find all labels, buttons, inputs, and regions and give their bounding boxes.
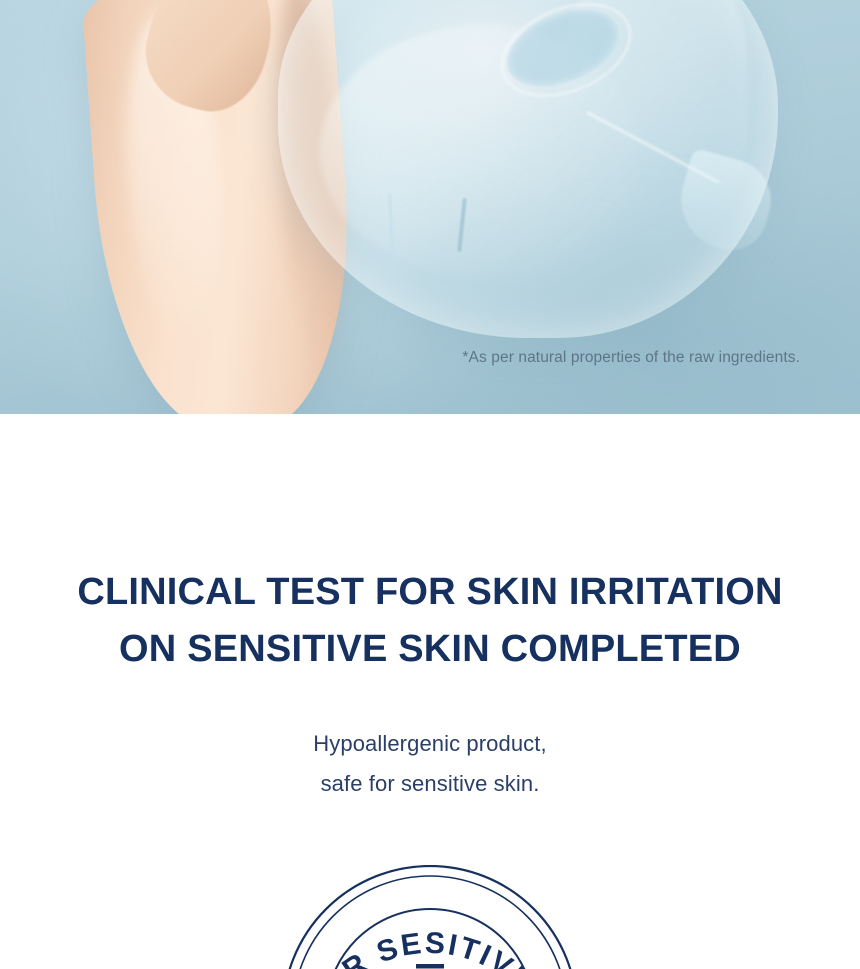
- content-section: CLINICAL TEST FOR SKIN IRRITATION ON SEN…: [0, 414, 860, 969]
- certification-badge: CLINICAL TEST FOR SESITIVE SKIN IRRITATI…: [280, 865, 580, 969]
- ingredient-footnote: *As per natural properties of the raw in…: [0, 349, 800, 367]
- page-headline: CLINICAL TEST FOR SKIN IRRITATION ON SEN…: [0, 564, 860, 678]
- page-subheadline: Hypoallergenic product, safe for sensiti…: [0, 724, 860, 804]
- hero-photo-section: *As per natural properties of the raw in…: [0, 0, 860, 414]
- sheet-mask: [278, 0, 778, 338]
- badge-divider-dash: [416, 964, 444, 969]
- badge-curved-text: CLINICAL TEST FOR SESITIVE SKIN IRRITATI…: [280, 865, 578, 969]
- certification-badge-graphic: CLINICAL TEST FOR SESITIVE SKIN IRRITATI…: [280, 865, 580, 969]
- headline-line-2: ON SENSITIVE SKIN COMPLETED: [0, 621, 860, 678]
- subhead-line-2: safe for sensitive skin.: [0, 764, 860, 804]
- subhead-line-1: Hypoallergenic product,: [0, 724, 860, 764]
- headline-line-1: CLINICAL TEST FOR SKIN IRRITATION: [0, 564, 860, 621]
